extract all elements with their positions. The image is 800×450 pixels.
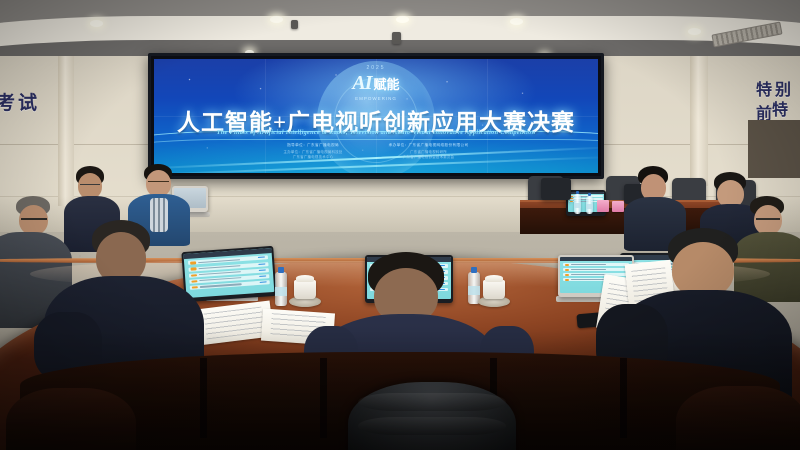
ceiling-downlight	[90, 20, 103, 27]
led-screen-content: 2025 AI赋能 EMPOWERING 人工智能+广电视听创新应用大赛决赛 T…	[154, 59, 598, 173]
glasses-icon	[148, 181, 169, 186]
bottle-label	[275, 287, 287, 296]
ceiling-sensor	[291, 20, 298, 29]
office-chair-center[interactable]	[348, 382, 516, 450]
glasses-icon	[21, 218, 47, 225]
logo-ai-text: AI	[352, 72, 371, 94]
name-card	[612, 201, 624, 212]
ceiling-speaker	[392, 32, 401, 44]
logo-cn-text: 赋能	[374, 77, 400, 92]
office-chair-left[interactable]	[6, 388, 136, 450]
led-video-wall: 2025 AI赋能 EMPOWERING 人工智能+广电视听创新应用大赛决赛 T…	[148, 53, 604, 179]
chair-backrest-ridge	[358, 417, 506, 435]
bottle-label	[468, 286, 480, 294]
ceiling-downlight	[270, 16, 283, 23]
conference-room-photo: 考试 特别前 特 2025 AI赋能 EMPOWERING 人工智能+广电视听创…	[0, 0, 800, 450]
glasses-icon	[756, 218, 780, 225]
ceiling	[0, 0, 800, 60]
wall-dark-panel	[748, 120, 800, 178]
background-monitor	[541, 178, 571, 200]
screen-header-bar	[560, 257, 632, 261]
table-leg	[620, 358, 627, 438]
bottle-label	[586, 204, 593, 209]
plaid-shirt	[150, 198, 168, 232]
water-bottle	[586, 196, 593, 214]
credit-heading: 指导单位：广东省广播电视局	[284, 143, 343, 148]
credit-heading: 承办单位：广东省广播电视网络股份有限公司	[389, 143, 469, 148]
screen-action-button[interactable]	[259, 275, 266, 276]
led-panel-seam	[154, 116, 598, 117]
screen-list-row[interactable]	[563, 263, 629, 266]
chair-headrest-ridge	[358, 393, 506, 411]
wall-sign-right-line2: 特	[772, 96, 791, 120]
ceiling-downlight	[396, 16, 409, 23]
table-leg	[200, 358, 207, 438]
wall-pillar	[690, 56, 708, 186]
ceiling-downlight	[510, 18, 523, 25]
screen-list-row[interactable]	[563, 268, 629, 271]
credit-block: 指导单位：广东省广播电视局 主办单位：广东省广播电视局科技处 广东省广播电视技术…	[284, 143, 343, 160]
office-chair-right[interactable]	[676, 386, 800, 450]
wall-pillar	[58, 56, 74, 206]
ceiling-downlight	[688, 28, 701, 35]
table-leg	[320, 358, 327, 438]
document-text-lines	[204, 307, 265, 340]
screen-header-bar	[568, 192, 604, 194]
screen-action-button[interactable]	[258, 257, 265, 258]
screen-action-button[interactable]	[260, 281, 267, 282]
credit-lines: 广东省广播电视科研所 广东省广播电视协会技术委员会	[389, 150, 469, 160]
glasses-icon	[80, 184, 100, 189]
water-bottle	[574, 194, 581, 214]
teacup[interactable]	[294, 280, 316, 299]
name-card	[597, 200, 609, 212]
teacup[interactable]	[483, 280, 505, 299]
screen-action-button[interactable]	[259, 269, 266, 270]
monitor-screen	[184, 248, 275, 298]
credit-block: 承办单位：广东省广播电视网络股份有限公司 广东省广播电视科研所 广东省广播电视协…	[389, 143, 469, 160]
wall-sign-left: 考试	[0, 88, 40, 115]
water-bottle[interactable]	[275, 272, 287, 306]
credit-lines: 主办单位：广东省广播电视局科技处 广东省广播电视技术中心	[284, 150, 343, 160]
screen-action-button[interactable]	[258, 263, 265, 264]
bottle-label	[574, 203, 581, 208]
monitor-left[interactable]	[181, 246, 276, 302]
